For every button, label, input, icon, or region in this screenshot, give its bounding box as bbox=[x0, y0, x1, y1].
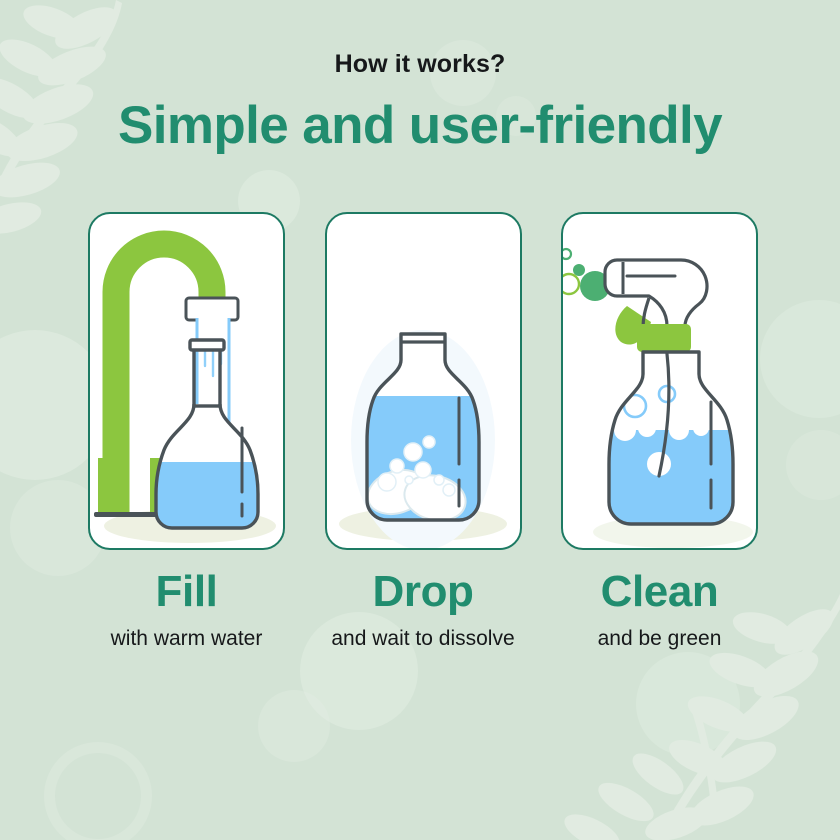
bokeh-circle bbox=[636, 652, 740, 756]
bottle-with-dissolving-tablets-icon bbox=[327, 214, 520, 548]
infographic-canvas: How it works? Simple and user-friendly bbox=[0, 0, 840, 840]
bokeh-ring bbox=[44, 742, 152, 840]
step-title-clean: Clean bbox=[561, 570, 758, 615]
step-subtitle-fill: with warm water bbox=[88, 625, 285, 653]
step-title-drop: Drop bbox=[325, 570, 522, 615]
bokeh-circle bbox=[258, 690, 330, 762]
step-title-fill: Fill bbox=[88, 570, 285, 615]
header-block: How it works? Simple and user-friendly bbox=[0, 52, 840, 152]
bokeh-circle bbox=[760, 300, 840, 418]
bokeh-circle bbox=[786, 430, 840, 500]
steps-card-row bbox=[88, 212, 758, 550]
step-card-fill[interactable] bbox=[88, 212, 285, 550]
spray-bubbles-icon bbox=[563, 249, 610, 301]
page-title: Simple and user-friendly bbox=[0, 99, 840, 152]
faucet-filling-bottle-icon bbox=[90, 214, 283, 548]
step-card-drop[interactable] bbox=[325, 212, 522, 550]
step-subtitle-clean: and be green bbox=[561, 625, 758, 653]
step-card-clean[interactable] bbox=[561, 212, 758, 550]
steps-caption-row: Fill with warm water Drop and wait to di… bbox=[88, 570, 758, 653]
caption-fill: Fill with warm water bbox=[88, 570, 285, 653]
caption-clean: Clean and be green bbox=[561, 570, 758, 653]
caption-drop: Drop and wait to dissolve bbox=[325, 570, 522, 653]
kicker-text: How it works? bbox=[0, 52, 840, 77]
step-subtitle-drop: and wait to dissolve bbox=[325, 625, 522, 653]
spray-bottle-icon bbox=[563, 214, 756, 548]
